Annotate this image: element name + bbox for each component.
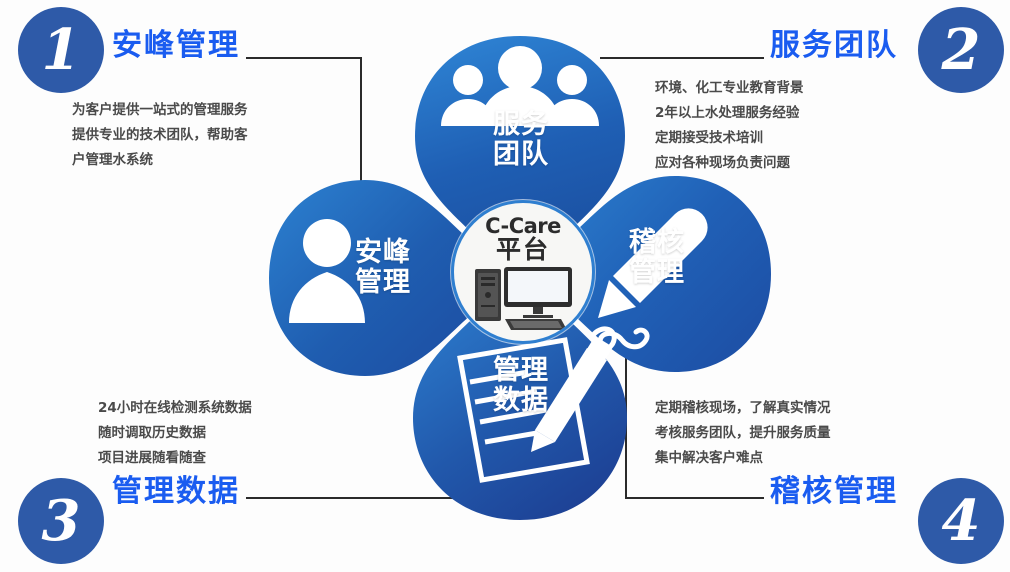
petal-label-management-data: 管理 数据 [486, 356, 556, 416]
quadrant-title-service-team: 服务团队 [770, 20, 898, 64]
quadrant-title-management-data: 管理数据 [112, 466, 240, 510]
petal-label-service-team: 服务 团队 [486, 110, 556, 170]
hub-title-ccare: C-Care [454, 215, 592, 237]
desktop-computer-icon [471, 265, 575, 333]
petal-label-audit-management: 稽核 管理 [622, 228, 692, 288]
body-line: 为客户提供一站式的管理服务 [72, 98, 248, 123]
badge-number-4: 4 [918, 478, 1004, 564]
hub-title-platform: 平台 [454, 237, 592, 263]
hub-text: C-Care 平台 [454, 215, 592, 263]
body-line: 提供专业的技术团队，帮助客 [72, 123, 248, 148]
badge-number-2: 2 [918, 7, 1004, 93]
badge-number-3: 3 [18, 478, 104, 564]
quadrant-title-anfeng-management: 安峰管理 [112, 20, 240, 64]
petal-label-line: 数据 [486, 386, 556, 416]
petal-label-line: 团队 [486, 140, 556, 170]
petal-label-line: 安峰 [348, 238, 418, 268]
center-hub: C-Care 平台 [451, 200, 595, 344]
body-line: 随时调取历史数据 [98, 421, 252, 446]
quadrant-body-1: 为客户提供一站式的管理服务 提供专业的技术团队，帮助客 户管理水系统 [72, 98, 248, 173]
petal-label-line: 稽核 [622, 228, 692, 258]
petal-label-line: 管理 [348, 268, 418, 298]
petal-label-line: 管理 [486, 356, 556, 386]
quadrant-body-3: 24小时在线检测系统数据 随时调取历史数据 项目进展随看随查 [98, 396, 252, 471]
body-line: 户管理水系统 [72, 148, 248, 173]
badge-number-1: 1 [18, 7, 104, 93]
petal-label-line: 服务 [486, 110, 556, 140]
body-line: 项目进展随看随查 [98, 446, 252, 471]
petal-label-anfeng-management: 安峰 管理 [348, 238, 418, 298]
petal-label-line: 管理 [622, 258, 692, 288]
body-line: 24小时在线检测系统数据 [98, 396, 252, 421]
quadrant-title-audit-management: 稽核管理 [770, 466, 898, 510]
infographic-canvas: 1 2 3 4 安峰管理 服务团队 管理数据 稽核管理 为客户提供一站式的管理服… [0, 0, 1010, 572]
